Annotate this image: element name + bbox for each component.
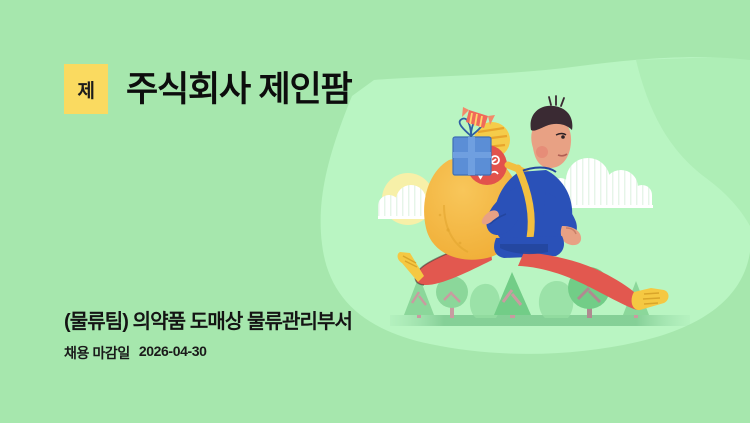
company-row: 제 주식회사 제인팜 [64, 64, 352, 114]
job-posting-card: 제 주식회사 제인팜 (물류팀) 의약품 도매상 물류관리부서 채용 마감일 2… [0, 0, 750, 423]
job-title: (물류팀) 의약품 도매상 물류관리부서 [64, 305, 352, 334]
company-badge: 제 [64, 64, 108, 114]
deadline-date: 2026-04-30 [139, 343, 207, 363]
deadline-row: 채용 마감일 2026-04-30 [64, 343, 207, 363]
deadline-label: 채용 마감일 [64, 343, 130, 363]
company-name: 주식회사 제인팜 [126, 72, 352, 107]
